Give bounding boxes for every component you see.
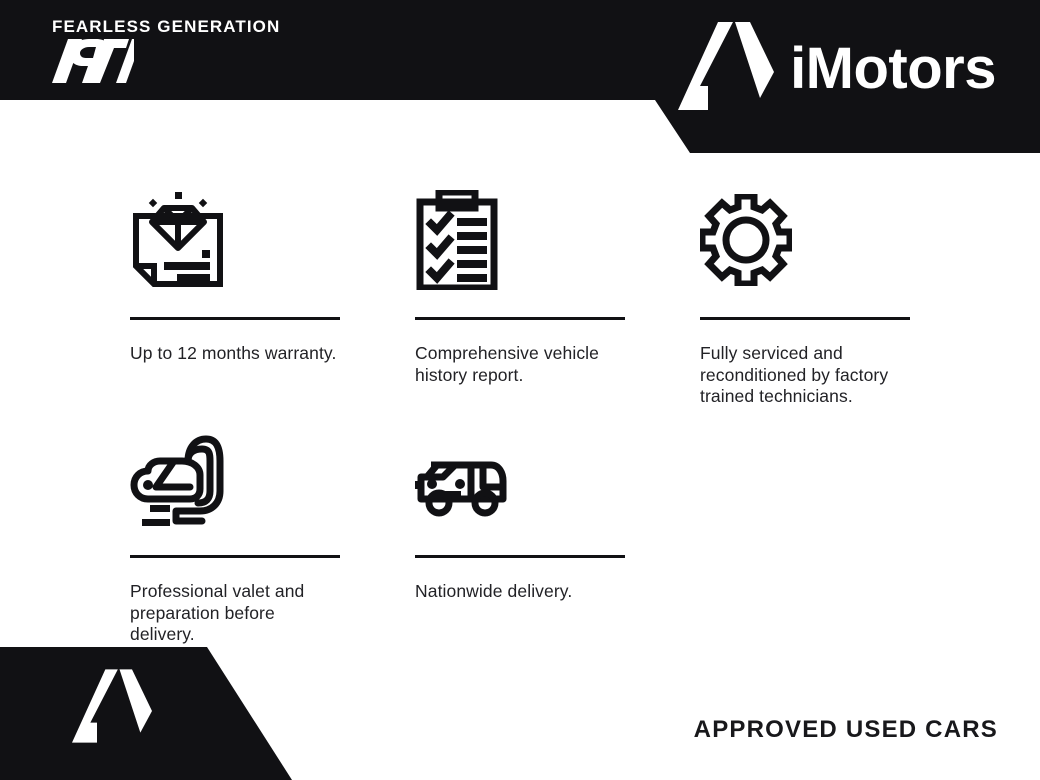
diamond-certificate-icon (130, 185, 340, 295)
approved-used-cars-tagline: APPROVED USED CARS (694, 716, 998, 744)
feature-label: Professional valet and preparation befor… (130, 581, 340, 646)
feature-label: Comprehensive vehicle history report. (415, 343, 625, 386)
feature-divider (415, 317, 625, 320)
year-1971-logo (44, 39, 280, 88)
feature-divider (415, 555, 625, 558)
feature-divider (130, 555, 340, 558)
footer-imotors-chevron-logo-icon (72, 667, 152, 750)
vacuum-cleaner-icon (130, 430, 340, 535)
feature-divider (130, 317, 340, 320)
feature-history-report: Comprehensive vehicle history report. (415, 185, 625, 408)
fearless-generation-lockup: FEARLESS GENERATION (44, 18, 280, 88)
feature-warranty: Up to 12 months warranty. (130, 185, 340, 408)
feature-row-1: Up to 12 months warranty. (130, 185, 920, 408)
imotors-brand-lockup: iMotors (678, 20, 996, 117)
feature-serviced: Fully serviced and reconditioned by fact… (700, 185, 910, 408)
clipboard-checklist-icon (415, 185, 625, 295)
feature-row-2: Professional valet and preparation befor… (130, 430, 920, 646)
imotors-wordmark: iMotors (790, 40, 996, 98)
feature-label: Nationwide delivery. (415, 581, 625, 603)
feature-label: Up to 12 months warranty. (130, 343, 340, 365)
feature-grid: Up to 12 months warranty. (130, 185, 920, 646)
feature-delivery: Nationwide delivery. (415, 430, 625, 646)
car-transporter-truck-icon (415, 430, 625, 535)
feature-valet: Professional valet and preparation befor… (130, 430, 340, 646)
feature-label: Fully serviced and reconditioned by fact… (700, 343, 910, 408)
feature-divider (700, 317, 910, 320)
header-tagline: FEARLESS GENERATION (52, 18, 280, 35)
imotors-chevron-logo-icon (678, 20, 774, 117)
gear-cog-icon (700, 185, 910, 295)
